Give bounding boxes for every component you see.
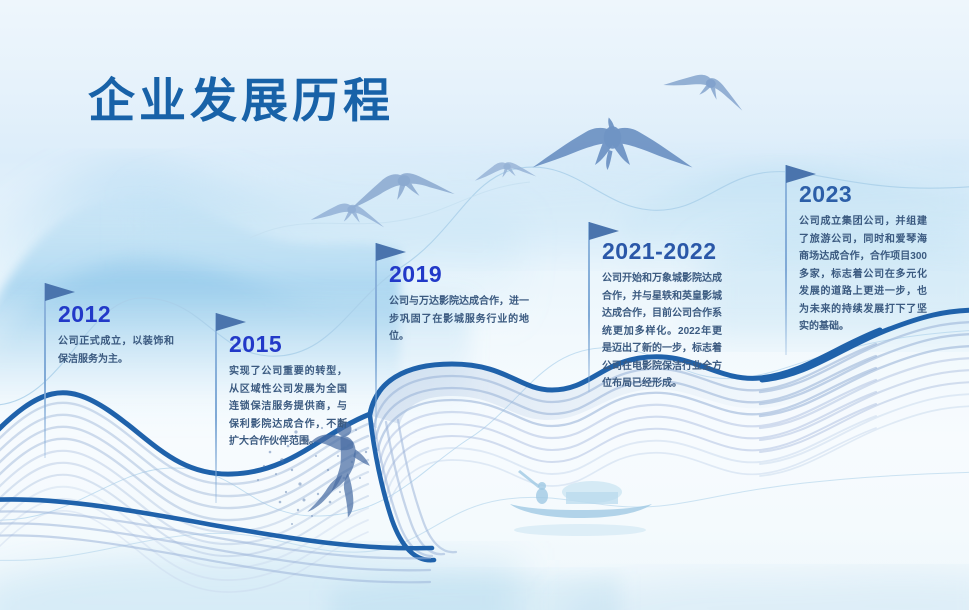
milestone-desc-2019: 公司与万达影院达成合作，进一步巩固了在影城服务行业的地位。 [389, 293, 529, 346]
milestone-year-2019: 2019 [389, 261, 442, 288]
milestone-desc-2023: 公司成立集团公司，并组建了旅游公司，同时和爱琴海商场达成合作，合作项目300多家… [799, 213, 927, 336]
seagull-icon [663, 64, 749, 111]
milestone-year-2015: 2015 [229, 331, 282, 358]
milestone-desc-2021-2022: 公司开始和万象城影院达成合作，并与星轶和英皇影城达成合作，目前公司合作系统更加多… [602, 270, 722, 393]
timeline-poster: 企业发展历程 2012 公司正式成立，以装饰和保洁服务为主。 2015 实现了公… [0, 0, 969, 610]
flag-icon-2012 [45, 283, 75, 301]
page-title: 企业发展历程 [88, 62, 394, 131]
flag-icon-2019 [376, 243, 406, 261]
milestone-year-2012: 2012 [58, 301, 111, 328]
flagpole-2012 [44, 283, 46, 458]
flag-icon-2015 [216, 313, 246, 331]
seagull-icon [347, 166, 454, 208]
seagull-icon [474, 160, 537, 181]
flagpole-2023 [785, 165, 787, 355]
fishing-boat-icon [510, 470, 652, 518]
flagpole-2015 [215, 313, 217, 503]
milestone-year-2021-2022: 2021-2022 [602, 238, 717, 265]
flagpole-2021-2022 [588, 222, 590, 392]
milestone-year-2023: 2023 [799, 181, 852, 208]
milestone-desc-2012: 公司正式成立，以装饰和保洁服务为主。 [58, 333, 174, 368]
flagpole-2019 [375, 243, 377, 428]
seagull-icon [311, 200, 386, 227]
seagull-icon [533, 118, 693, 171]
milestone-desc-2015: 实现了公司重要的转型，从区域性公司发展为全国连锁保洁服务提供商，与保利影院达成合… [229, 363, 347, 451]
